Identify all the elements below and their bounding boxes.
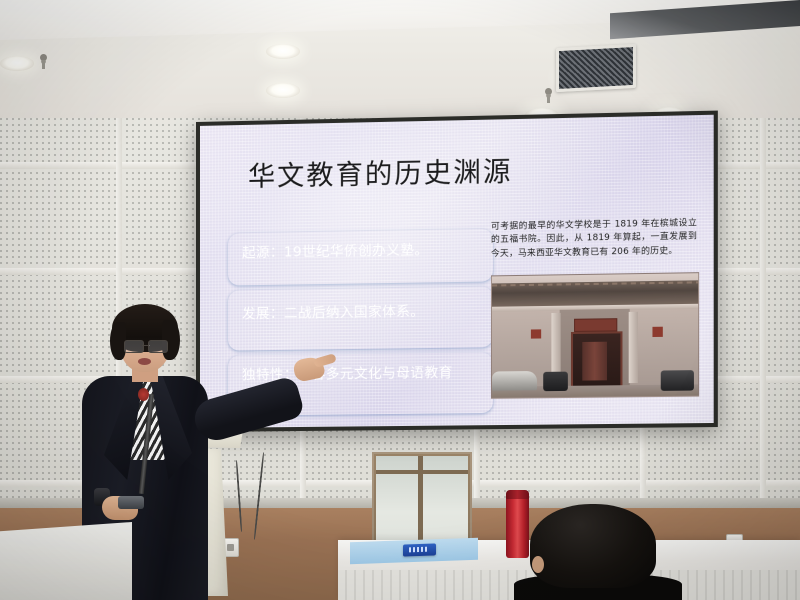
speaker-mouth (138, 358, 151, 365)
sprinkler-icon (40, 54, 47, 61)
door-transom-bar (376, 470, 468, 474)
slide-side-paragraph: 可考据的最早的华文学校是于 1819 年在槟城设立的五福书院。因此，从 1819… (491, 217, 697, 261)
bullet-item-origin: 起源：19世纪华侨创办义塾。 (228, 229, 493, 286)
photo-name-plaque (574, 318, 617, 332)
presenter-clicker-icon[interactable] (118, 496, 144, 509)
slide-side-column: 可考据的最早的华文学校是于 1819 年在槟城设立的五福书院。因此，从 1819… (491, 217, 697, 399)
glasses-icon (124, 340, 168, 351)
downlight-icon (266, 83, 300, 98)
presentation-photo-scene: 华文教育的历史渊源 起源：19世纪华侨创办义塾。 发展：二战后纳入国家体系。 独… (0, 0, 800, 600)
slide-photo-wufu-academy (491, 272, 699, 399)
downlight-icon (0, 56, 34, 71)
audience-member (524, 504, 664, 600)
sprinkler-icon (545, 88, 552, 95)
downlight-icon (266, 44, 300, 59)
thermos-cap[interactable] (506, 490, 529, 499)
blue-booklet[interactable] (403, 543, 436, 556)
microphone-icon[interactable] (138, 388, 149, 401)
side-table (0, 522, 132, 600)
air-vent-icon (556, 44, 636, 92)
slide-title: 华文教育的历史渊源 (248, 149, 512, 194)
